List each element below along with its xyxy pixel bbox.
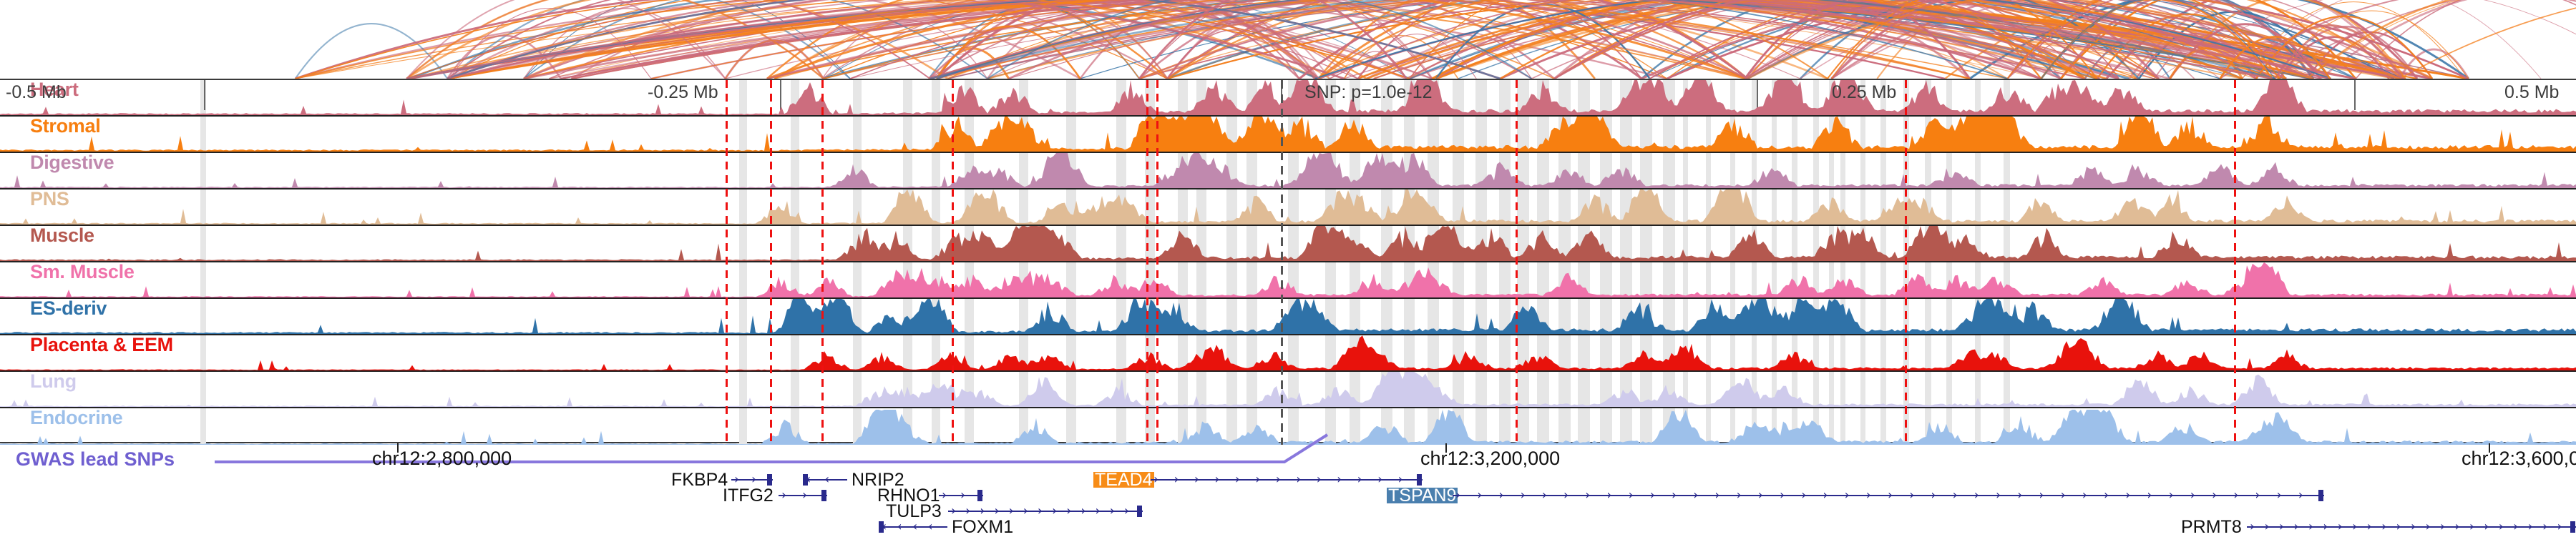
gene-exon [2318,490,2323,501]
gene-strand-arrow: › [751,473,756,486]
gene-strand-arrow: ‹ [912,521,917,533]
track-signal-histogram [0,335,2576,370]
gene-strand-arrow: › [2352,521,2357,533]
gene-strand-arrow: ‹ [897,521,902,533]
gene-strand-arrow: › [980,505,985,518]
track-signal-histogram [0,117,2576,152]
gene-exon [977,490,982,501]
gene-strand-arrow: › [2499,521,2504,533]
gene-strand-arrow: › [2484,521,2489,533]
gene-strand-arrow: › [1888,489,1893,502]
gene-strand-arrow: › [2293,521,2298,533]
ruler-label: -0.5 Mb [6,83,67,102]
gene-strand-arrow: › [1866,489,1871,502]
gene-strand-arrow: › [2440,521,2445,533]
gene-strand-arrow: › [1521,489,1526,502]
gene-strand-arrow: › [1337,473,1342,486]
gene-strand-arrow: › [1629,489,1634,502]
gene-strand-arrow: › [1693,489,1698,502]
gene-strand-arrow: › [1357,473,1362,486]
gene-strand-arrow: › [2323,521,2328,533]
gene-strand-arrow: › [1052,505,1057,518]
gene-exon [2570,521,2575,533]
gene-exon [1137,506,1142,517]
gene-strand-arrow: › [942,489,947,502]
gene-strand-arrow: › [1235,473,1240,486]
track-label: Lung [30,372,77,392]
loop-arc [2399,0,2576,79]
ruler-label: -0.25 Mb [648,83,718,102]
gene-strand-arrow: › [1296,473,1301,486]
gene-model-itfg2[interactable]: ›› [779,488,827,503]
track-signal-histogram [0,372,2576,407]
gene-strand-arrow: ‹ [824,473,829,486]
gene-strand-arrow: › [2279,521,2284,533]
gene-strand-arrow: › [1377,473,1382,486]
chromatin-loop-arc-panel [0,0,2576,79]
ruler-label: 0.5 Mb [2504,83,2559,102]
gene-strand-arrow: › [1974,489,1979,502]
gene-strand-arrow: › [2338,521,2343,533]
signal-track-pns: PNS [0,189,2576,226]
arc-svg [0,0,2576,79]
gene-strand-arrow: › [2212,489,2217,502]
signal-track-digestive: Digestive [0,153,2576,189]
gene-strand-arrow: › [2425,521,2430,533]
gene-label-tead4[interactable]: TEAD4 [1093,472,1154,488]
gene-strand-arrow: › [2454,521,2459,533]
coordinate-axis: chr12:2,800,000chr12:3,200,000chr12:3,60… [0,443,2576,473]
gene-model-rhno1[interactable]: ›› [939,488,983,503]
gene-strand-arrow: › [2147,489,2152,502]
gene-strand-arrow: › [1174,473,1179,486]
track-signal-histogram [0,262,2576,297]
gene-strand-arrow: › [2250,521,2255,533]
gene-strand-arrow: › [2017,489,2022,502]
signal-track-lung: Lung [0,372,2576,408]
gene-exon [821,490,826,501]
gene-strand-arrow: › [1009,505,1014,518]
gene-strand-arrow: ‹ [928,521,933,533]
gene-strand-arrow: › [2169,489,2174,502]
gene-strand-arrow: › [1650,489,1655,502]
ruler-label: 0.25 Mb [1832,83,1896,102]
signal-track-es-deriv: ES-deriv [0,299,2576,335]
gene-label-tulp3[interactable]: TULP3 [886,503,942,519]
gene-strand-arrow: › [1585,489,1590,502]
gene-strand-arrow: › [965,505,970,518]
gene-strand-arrow: › [1317,473,1322,486]
track-label: Sm. Muscle [30,262,135,282]
track-signal-histogram [0,299,2576,334]
gene-strand-arrow: › [1672,489,1677,502]
gene-label-foxm1[interactable]: FOXM1 [952,519,1013,535]
gene-strand-arrow: › [2233,489,2238,502]
signal-track-heart: Heart [0,80,2576,117]
gene-strand-arrow: › [2061,489,2066,502]
gene-strand-arrow: › [1023,505,1028,518]
gwas-lead-snps-label: GWAS lead SNPs [16,448,175,471]
gene-strand-arrow: › [2264,521,2269,533]
gene-strand-arrow: › [1780,489,1785,502]
track-label: Digestive [30,153,114,173]
track-label: ES-deriv [30,299,107,319]
gene-strand-arrow: › [1845,489,1850,502]
ruler-label: SNP: p=1.0e-12 [1304,83,1433,102]
gene-strand-arrow: › [1714,489,1719,502]
gene-exon [879,521,884,533]
gene-strand-arrow: › [2381,521,2386,533]
gene-strand-arrow: › [2411,521,2416,533]
gene-strand-arrow: › [1606,489,1611,502]
gene-strand-arrow: › [1080,505,1085,518]
gene-strand-arrow: › [2469,521,2474,533]
gene-strand-arrow: › [2396,521,2401,533]
track-signal-histogram [0,189,2576,225]
track-label: PNS [30,189,69,210]
gene-strand-arrow: › [1398,473,1403,486]
gene-model-prmt8[interactable]: ›››››››››››››››››››››› [2247,519,2576,535]
gene-strand-arrow: › [1477,489,1482,502]
gene-strand-arrow: › [1931,489,1936,502]
gene-strand-arrow: › [802,489,807,502]
gene-strand-arrow: › [2104,489,2109,502]
gene-strand-arrow: › [1758,489,1763,502]
gene-label-fkbp4[interactable]: FKBP4 [671,472,728,488]
gene-strand-arrow: › [1255,473,1260,486]
gene-strand-arrow: › [2367,521,2372,533]
gene-strand-arrow: › [1038,505,1043,518]
signal-track-placenta-eem: Placenta & EEM [0,335,2576,372]
gene-strand-arrow: › [2039,489,2044,502]
gene-strand-arrow: › [2298,489,2303,502]
gene-strand-arrow: › [1996,489,2001,502]
gene-strand-arrow: › [1153,473,1158,486]
gene-exon [767,474,772,486]
gene-strand-arrow: › [1066,505,1071,518]
gene-strand-arrow: › [2190,489,2195,502]
gene-label-prmt8[interactable]: PRMT8 [2181,519,2242,535]
gene-label-itfg2[interactable]: ITFG2 [723,488,774,503]
gene-strand-arrow: › [2125,489,2130,502]
coordinate-label: chr12:3,600,000 [2462,448,2576,470]
gene-strand-arrow: › [2308,521,2313,533]
track-label: Stromal [30,117,100,137]
coordinate-label: chr12:2,800,000 [372,448,512,470]
signal-track-muscle: Muscle [0,226,2576,262]
gene-strand-arrow: › [2513,521,2518,533]
gene-model-tspan9[interactable]: ›››››››››››››››››››››››››››››››››››››››› [1453,488,2324,503]
gene-strand-arrow: › [1563,489,1568,502]
signal-track-panel: HeartStromalDigestivePNSMuscleSm. Muscle… [0,79,2576,443]
signal-track-stromal: Stromal [0,117,2576,153]
gene-strand-arrow: › [2557,521,2562,533]
gene-label-tspan9[interactable]: TSPAN9 [1387,488,1458,503]
gene-strand-arrow: › [1737,489,1742,502]
gene-strand-arrow: › [1801,489,1806,502]
gene-strand-arrow: › [734,473,739,486]
track-signal-histogram [0,226,2576,261]
gene-exon [1417,474,1422,486]
track-signal-histogram [0,153,2576,188]
gene-model-tead4[interactable]: ››››››››››››› [1151,472,1423,488]
gene-strand-arrow: › [1953,489,1958,502]
gene-strand-arrow: › [960,489,965,502]
gene-strand-arrow: › [1823,489,1828,502]
track-label: Muscle [30,226,94,246]
gene-strand-arrow: › [2255,489,2260,502]
track-label: Endocrine [30,408,122,428]
gene-annotation-track: FKBP4››NRIP2‹‹TEAD4›››››››››››››ITFG2››R… [0,472,2576,536]
gene-strand-arrow: › [1909,489,1914,502]
track-signal-histogram [0,80,2576,115]
track-label: Placenta & EEM [30,335,173,355]
gene-strand-arrow: › [1214,473,1219,486]
gene-strand-arrow: › [1096,505,1101,518]
gene-exon [803,474,808,486]
gene-strand-arrow: › [781,489,786,502]
gene-strand-arrow: › [1498,489,1503,502]
gene-strand-arrow: › [1124,505,1129,518]
gene-strand-arrow: › [1455,489,1460,502]
gene-model-nrip2[interactable]: ‹‹ [803,472,847,488]
coordinate-label: chr12:3,200,000 [1420,448,1560,470]
gene-model-foxm1[interactable]: ‹‹‹‹ [879,519,947,535]
gene-strand-arrow: › [951,505,956,518]
gene-strand-arrow: › [1276,473,1281,486]
gene-strand-arrow: › [2277,489,2282,502]
gene-strand-arrow: › [2528,521,2533,533]
signal-track-sm-muscle: Sm. Muscle [0,262,2576,299]
gene-strand-arrow: › [1110,505,1115,518]
gene-strand-arrow: › [1542,489,1547,502]
gene-strand-arrow: › [994,505,999,518]
tracks-host: HeartStromalDigestivePNSMuscleSm. Muscle… [0,80,2576,445]
gene-strand-arrow: › [2542,521,2547,533]
gene-strand-arrow: › [1194,473,1199,486]
gene-strand-arrow: › [2082,489,2087,502]
